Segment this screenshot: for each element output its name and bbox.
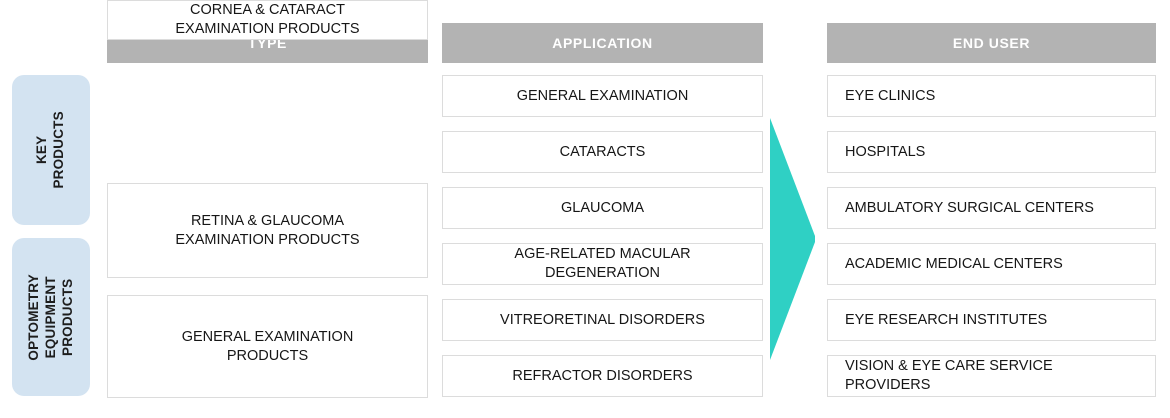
application-cell: GENERAL EXAMINATION [442,75,763,117]
application-cell-label: AGE-RELATED MACULAR DEGENERATION [514,245,690,283]
type-cell-label: CORNEA & CATARACT EXAMINATION PRODUCTS [175,1,359,39]
category-tab-key-products: KEY PRODUCTS [12,75,90,225]
application-cell: VITREORETINAL DISORDERS [442,299,763,341]
end-user-cell: EYE RESEARCH INSTITUTES [827,299,1156,341]
type-cell: CORNEA & CATARACT EXAMINATION PRODUCTS [107,0,428,40]
column-header-application: APPLICATION [442,23,763,63]
flow-arrow-right-icon [770,118,820,360]
type-cell-label: GENERAL EXAMINATION PRODUCTS [182,328,354,366]
application-cell: AGE-RELATED MACULAR DEGENERATION [442,243,763,285]
application-cell-label: REFRACTOR DISORDERS [512,367,692,386]
end-user-cell: VISION & EYE CARE SERVICE PROVIDERS [827,355,1156,397]
end-user-cell: ACADEMIC MEDICAL CENTERS [827,243,1156,285]
application-cell: GLAUCOMA [442,187,763,229]
end-user-cell-label: HOSPITALS [845,143,925,162]
application-cell: CATARACTS [442,131,763,173]
column-end-user: END USER EYE CLINICS HOSPITALS AMBULATOR… [827,0,1156,418]
application-cell: REFRACTOR DISORDERS [442,355,763,397]
end-user-cell-label: VISION & EYE CARE SERVICE PROVIDERS [845,357,1053,395]
category-tab-label: KEY PRODUCTS [34,111,68,188]
end-user-cell-label: EYE RESEARCH INSTITUTES [845,311,1047,330]
category-tab-label: OPTOMETRY EQUIPMENT PRODUCTS [26,274,77,361]
end-user-cell: HOSPITALS [827,131,1156,173]
application-cell-label: VITREORETINAL DISORDERS [500,311,705,330]
end-user-cell-label: ACADEMIC MEDICAL CENTERS [845,255,1063,274]
category-tab-optometry-equipment-products: OPTOMETRY EQUIPMENT PRODUCTS [12,238,90,396]
market-segmentation-diagram: KEY PRODUCTS OPTOMETRY EQUIPMENT PRODUCT… [0,0,1170,418]
type-cell: GENERAL EXAMINATION PRODUCTS [107,295,428,398]
end-user-cell: EYE CLINICS [827,75,1156,117]
column-type: TYPE RETINA & GLAUCOMA EXAMINATION PRODU… [107,0,428,418]
application-cell-label: CATARACTS [560,143,646,162]
application-cell-label: GLAUCOMA [561,199,644,218]
column-application: APPLICATION GENERAL EXAMINATION CATARACT… [442,0,763,418]
column-header-end-user: END USER [827,23,1156,63]
end-user-cell-label: AMBULATORY SURGICAL CENTERS [845,199,1094,218]
end-user-cell-label: EYE CLINICS [845,87,935,106]
type-cell-label: RETINA & GLAUCOMA EXAMINATION PRODUCTS [175,212,359,250]
end-user-cell: AMBULATORY SURGICAL CENTERS [827,187,1156,229]
application-cell-label: GENERAL EXAMINATION [517,87,689,106]
type-cell: RETINA & GLAUCOMA EXAMINATION PRODUCTS [107,183,428,278]
